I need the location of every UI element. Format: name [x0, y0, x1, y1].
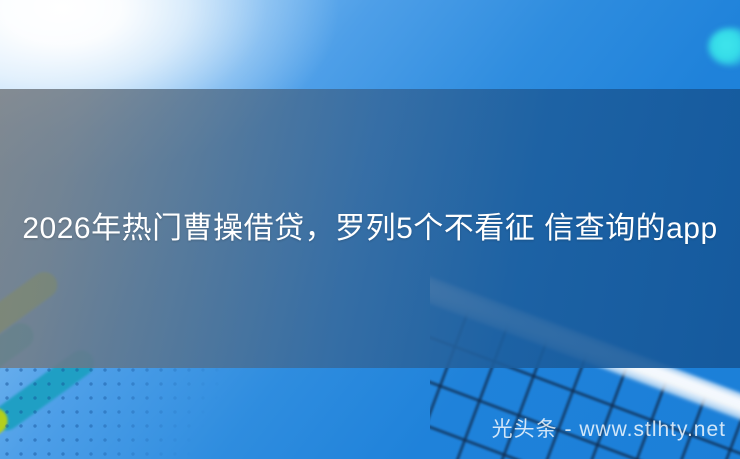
cover-image: 2026年热门曹操借贷，罗列5个不看征 信查询的app 光头条 - www.st…: [0, 0, 740, 459]
cover-title-line-1: 2026年热门曹操借贷，罗列5个不看征: [22, 212, 535, 245]
cover-title: 2026年热门曹操借贷，罗列5个不看征 信查询的app: [20, 206, 720, 252]
halftone-dots-decoration: [0, 363, 230, 459]
headline-overlay-band: 2026年热门曹操借贷，罗列5个不看征 信查询的app: [0, 89, 740, 368]
cover-title-line-2: 信查询的app: [544, 212, 718, 245]
